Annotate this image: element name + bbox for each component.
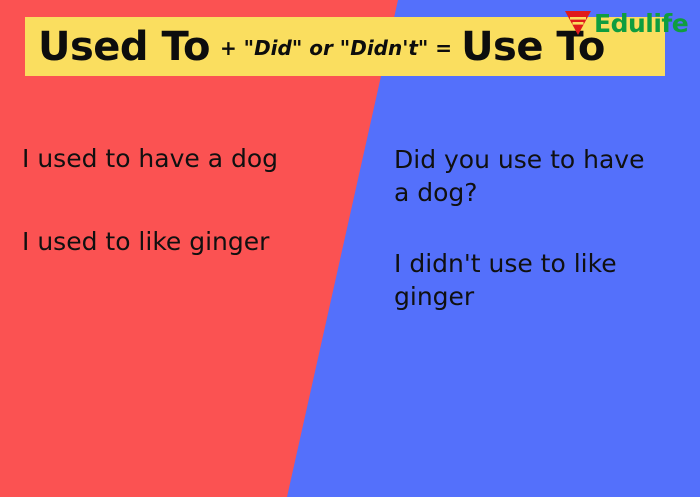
edulife-wordmark: Edulife bbox=[594, 11, 688, 36]
right-examples-column: Did you use to have a dog? I didn't use … bbox=[394, 143, 654, 313]
left-sentence-2: I used to like ginger bbox=[22, 226, 332, 259]
edulife-logo: Edulife bbox=[563, 9, 688, 37]
slide-canvas: Used To + "Did" or "Didn't" = Use To Edu… bbox=[0, 0, 700, 497]
banner-middle-phrase: + "Did" or "Didn't" = bbox=[220, 35, 452, 58]
left-examples-column: I used to have a dog I used to like ging… bbox=[22, 143, 332, 258]
right-sentence-1: Did you use to have a dog? bbox=[394, 143, 654, 209]
banner-left-phrase: Used To bbox=[38, 27, 210, 67]
right-sentence-2: I didn't use to like ginger bbox=[394, 247, 654, 313]
left-sentence-1: I used to have a dog bbox=[22, 143, 332, 176]
funnel-triangle-icon bbox=[563, 9, 593, 37]
